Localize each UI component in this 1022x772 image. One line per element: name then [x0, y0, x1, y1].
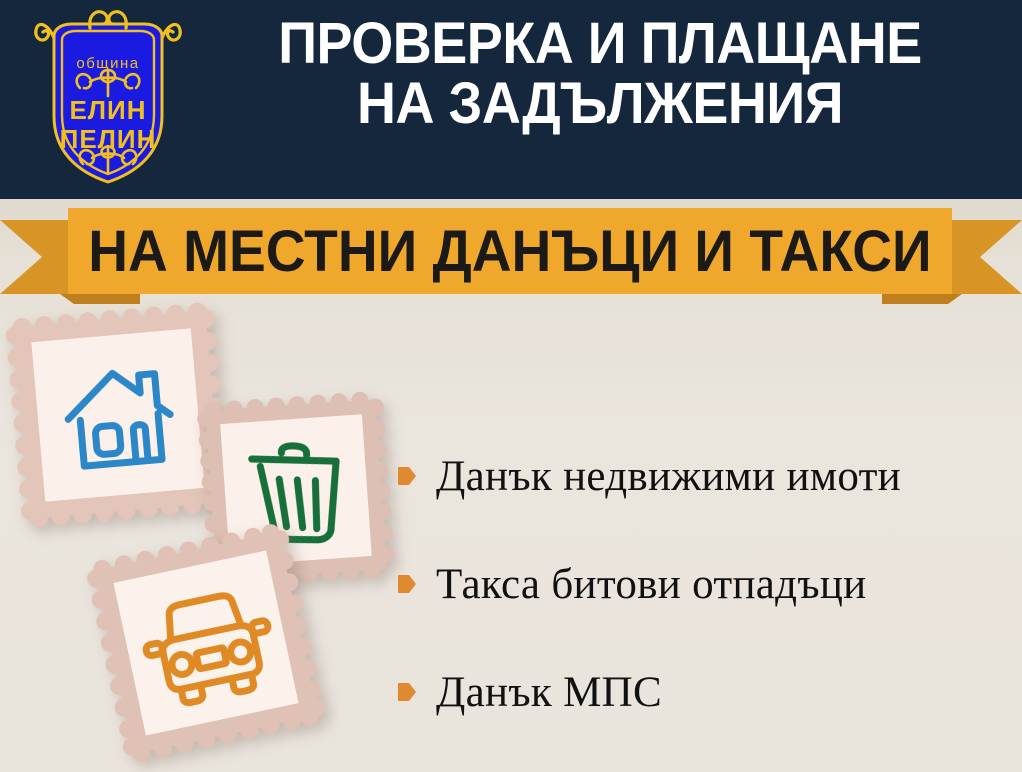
list-item-label: Данък недвижими имоти: [436, 452, 901, 501]
municipality-crest-logo: община ЕЛИН ПЕЛИН: [28, 6, 188, 192]
page-title-line-1: ПРОВЕРКА И ПЛАЩАНЕ: [219, 14, 982, 74]
arrow-bullet-icon: [398, 465, 416, 487]
list-item-label: Такса битови отпадъци: [436, 560, 866, 609]
stamp-paper: [113, 550, 298, 735]
crest-shield-icon: община ЕЛИН ПЕЛИН: [28, 6, 188, 192]
ribbon-subtitle-text: НА МЕСТНИ ДАНЪЦИ И ТАКСИ: [88, 218, 931, 285]
page-title: ПРОВЕРКА И ПЛАЩАНЕ НА ЗАДЪЛЖЕНИЯ: [219, 14, 982, 133]
list-item[interactable]: Данък недвижими имоти: [398, 422, 1018, 530]
subtitle-ribbon: НА МЕСТНИ ДАНЪЦИ И ТАКСИ: [0, 198, 1022, 308]
stamp-paper: [31, 328, 204, 501]
arrow-bullet-icon: [398, 681, 416, 703]
ribbon-fold-right: [882, 294, 962, 304]
ribbon-banner: НА МЕСТНИ ДАНЪЦИ И ТАКСИ: [68, 208, 952, 294]
stamp-card-vehicle-tax: [78, 515, 334, 771]
header-bar: община ЕЛИН ПЕЛИН: [0, 0, 1022, 199]
crest-name-line-1: ЕЛИН: [69, 95, 146, 125]
list-item[interactable]: Такса битови отпадъци: [398, 530, 1018, 638]
list-item-label: Данък МПС: [436, 668, 662, 717]
poster-canvas: община ЕЛИН ПЕЛИН: [0, 0, 1022, 772]
page-title-line-2: НА ЗАДЪЛЖЕНИЯ: [219, 74, 982, 134]
service-list: Данък недвижими имоти Такса битови отпад…: [398, 422, 1018, 746]
arrow-bullet-icon: [398, 573, 416, 595]
ribbon-fold-left: [60, 294, 140, 304]
list-item[interactable]: Данък МПС: [398, 638, 1018, 746]
